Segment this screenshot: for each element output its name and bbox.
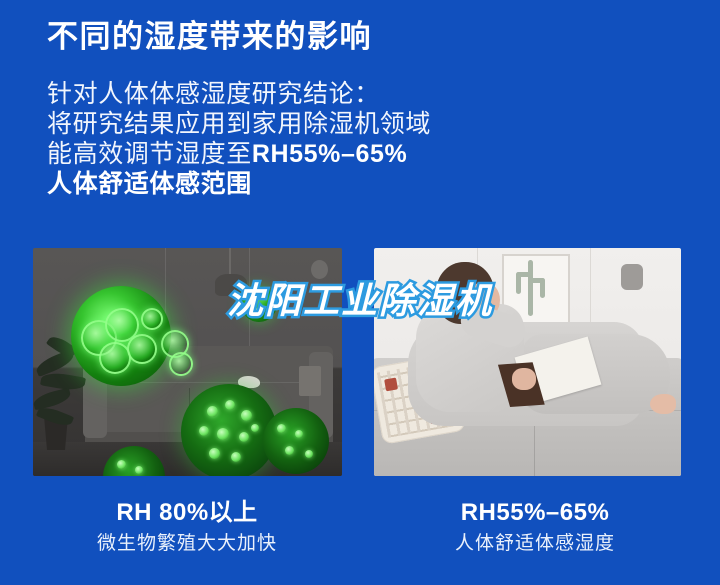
lamp-shade-icon xyxy=(215,274,247,296)
pillow-motif-icon xyxy=(384,378,398,392)
microbe-bump-icon xyxy=(241,410,252,421)
wall-speaker-icon xyxy=(311,260,328,279)
person-hand-shape xyxy=(512,368,536,390)
microbe-bump-icon xyxy=(231,452,241,462)
humidity-infographic-poster: 不同的湿度带来的影响 针对人体体感湿度研究结论： 将研究结果应用到家用除湿机领域… xyxy=(0,0,720,585)
caption-right: RH55%–65% 人体舒适体感湿度 xyxy=(370,498,700,556)
body-line-1: 针对人体体感湿度研究结论： xyxy=(47,79,477,109)
photo-panel-row xyxy=(0,248,720,476)
microbe-cell-icon xyxy=(141,308,163,330)
cactus-arm-icon xyxy=(516,272,532,277)
microbe-cell-icon xyxy=(127,334,157,364)
microbe-bump-icon xyxy=(199,426,209,436)
caption-right-subtitle: 人体舒适体感湿度 xyxy=(370,532,700,556)
microbe-bump-icon xyxy=(285,446,294,455)
body-line-3: 能高效调节湿度至RH55%–65% xyxy=(47,139,477,169)
microbe-bump-icon xyxy=(239,432,249,442)
caption-left-title: RH 80%以上 xyxy=(22,498,352,528)
body-line-2: 将研究结果应用到家用除湿机领域 xyxy=(47,109,477,139)
microbe-bump-icon xyxy=(251,424,259,432)
dark-room-background xyxy=(33,248,342,476)
bright-room-background xyxy=(374,248,681,476)
microbe-bump-icon xyxy=(135,466,143,474)
caption-left-subtitle: 微生物繁殖大大加快 xyxy=(22,532,352,556)
microbe-bump-icon xyxy=(295,430,303,438)
body-line-3-highlight: RH55%–65% xyxy=(252,140,408,168)
microbe-bump-icon xyxy=(217,428,229,440)
microbe-bump-icon xyxy=(207,406,218,417)
photo-comfort-humidity-person xyxy=(374,248,681,476)
microbe-sphere-icon xyxy=(181,384,277,476)
microbe-bump-icon xyxy=(209,448,220,459)
microbe-bump-icon xyxy=(255,308,261,314)
wall-speaker-icon xyxy=(621,264,643,290)
photo-high-humidity-microbes xyxy=(33,248,342,476)
microbe-sphere-icon xyxy=(71,286,171,386)
microbe-bump-icon xyxy=(117,460,126,469)
microbe-bump-icon xyxy=(261,294,267,300)
body-line-3-plain: 能高效调节湿度至 xyxy=(47,140,252,168)
sofa-cushion-split xyxy=(534,424,535,476)
side-table-shape xyxy=(299,366,321,396)
microbe-sphere-icon xyxy=(263,408,329,474)
cactus-arm-icon xyxy=(530,278,545,283)
intro-paragraph: 针对人体体感湿度研究结论： 将研究结果应用到家用除湿机领域 能高效调节湿度至RH… xyxy=(47,79,477,199)
person-foot-shape xyxy=(650,394,676,414)
caption-right-title: RH55%–65% xyxy=(370,498,700,528)
caption-left: RH 80%以上 微生物繁殖大大加快 xyxy=(22,498,352,556)
cactus-icon xyxy=(528,260,533,316)
page-title: 不同的湿度带来的影响 xyxy=(47,18,372,57)
microbe-bump-icon xyxy=(249,296,256,303)
microbe-bump-icon xyxy=(277,424,286,433)
microbe-bump-icon xyxy=(305,450,313,458)
caption-row: RH 80%以上 微生物繁殖大大加快 RH55%–65% 人体舒适体感湿度 xyxy=(0,498,720,578)
body-line-4: 人体舒适体感范围 xyxy=(47,169,477,199)
plant-leaf-icon xyxy=(33,388,72,411)
microbe-bump-icon xyxy=(225,400,235,410)
microbe-cell-icon xyxy=(169,352,193,376)
wall-seam-icon xyxy=(590,248,591,332)
microbe-sphere-icon xyxy=(241,286,277,322)
